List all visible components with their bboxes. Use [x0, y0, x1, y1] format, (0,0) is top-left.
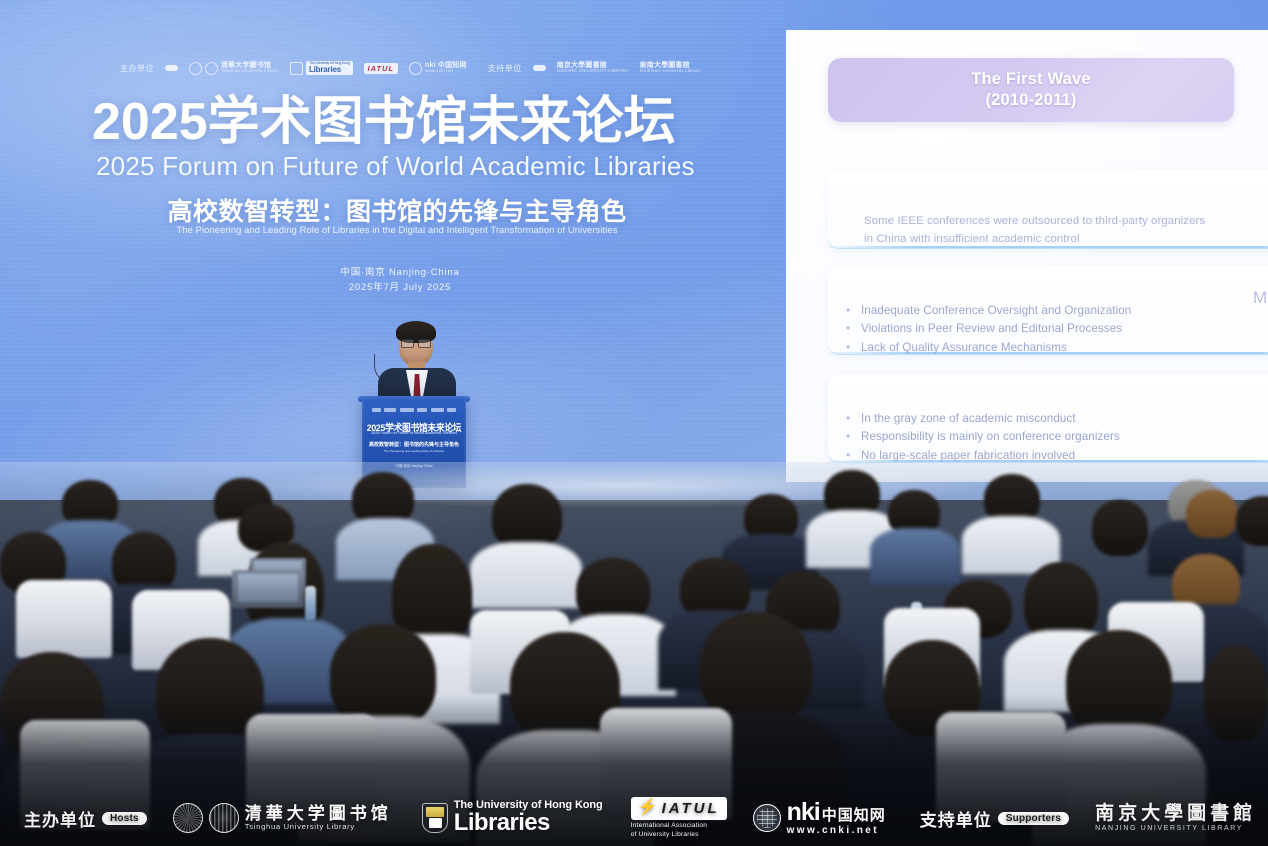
podium-logo-3: [400, 408, 414, 412]
chair: [16, 580, 112, 658]
slide-bullet-list-assessment: In the gray zone of academic misconduct …: [842, 410, 1268, 465]
slide-edge-partial-text: M: [1253, 288, 1267, 308]
iatul-bolt-icon: ⚡: [638, 800, 658, 816]
footer-logo-iatul: ⚡ IATUL International Association of Uni…: [631, 797, 727, 840]
footer-hosts-label-wrap: 主办单位 Hosts: [24, 806, 147, 831]
audience-shoulders: [470, 542, 582, 608]
water-bottle: [305, 586, 316, 620]
audience-shoulders: [870, 528, 960, 584]
footer-hku-line2: Libraries: [454, 811, 603, 835]
footer-logo-hku: The University of Hong Kong Libraries: [422, 800, 603, 835]
banner-supporters-label: 支持单位: [488, 63, 522, 74]
footer-iatul-sub1: International Association: [631, 822, 707, 831]
cnki-globe-icon: [753, 804, 781, 832]
slide-title-card: The First Wave (2010-2011): [828, 58, 1234, 122]
podium-logo-6: [447, 408, 456, 412]
footer-cnki-nki: nki: [787, 800, 820, 826]
slide-title-line2: (2010-2011): [985, 90, 1076, 111]
banner-supporters-pill: [533, 65, 546, 71]
glasses-icon: [401, 339, 431, 347]
slide-lead-text: Some IEEE conferences were outsourced to…: [864, 212, 1214, 249]
footer-tsinghua-en: Tsinghua University Library: [245, 823, 392, 831]
cnki-globe-icon: [409, 62, 422, 75]
footer-logo-tsinghua: 清華大学圖书馆 Tsinghua University Library: [173, 803, 392, 833]
banner-tsinghua-en: Tsinghua University Library: [221, 69, 279, 74]
banner-subtitle-en: The Pioneering and Leading Role of Libra…: [162, 224, 632, 235]
banner-nju-en: NANJING UNIVERSITY LIBRARY: [557, 69, 629, 74]
podium-title-en: 2025 Forum on Future of World Academic L…: [362, 431, 466, 435]
podium-logo-2: [384, 408, 396, 412]
list-item: Responsibility is mainly on conference o…: [842, 428, 1268, 446]
audience-head: [1236, 496, 1268, 546]
footer-hosts-label: 主办单位: [24, 806, 96, 831]
list-item: Lack of Quality Assurance Mechanisms: [842, 339, 1268, 357]
banner-seu-en: Southeast University Library: [639, 69, 700, 74]
conference-photo: 主办单位 清華大学圖书馆 Tsinghua University Library…: [0, 0, 1268, 846]
banner-logo-nju: 南京大學圖書館 NANJING UNIVERSITY LIBRARY: [557, 59, 629, 77]
banner-date: 2025年7月 July 2025: [280, 279, 520, 293]
presentation-slide: The First Wave (2010-2011) Some IEEE con…: [786, 30, 1268, 482]
banner-title-en: 2025 Forum on Future of World Academic L…: [96, 152, 716, 181]
footer-hosts-chip: Hosts: [102, 812, 147, 825]
hku-shield-icon: [290, 62, 303, 75]
banner-iatul-word: IATUL: [364, 63, 399, 74]
banner-hosts-pill: [165, 65, 178, 71]
footer-logo-nju: 南京大學圖書館 NANJING UNIVERSITY LIBRARY: [1095, 804, 1256, 833]
banner-hku-word: Libraries: [309, 65, 341, 74]
audience-seating: [0, 462, 1268, 846]
footer-cnki-cn: 中国知网: [822, 808, 886, 823]
list-item: In the gray zone of academic misconduct: [842, 410, 1268, 428]
footer-hosts-group: 主办单位 Hosts: [24, 806, 147, 831]
podium-logo-1: [372, 408, 381, 412]
banner-logo-hku: The University of Hong Kong Libraries: [290, 59, 353, 77]
banner-logo-cnki: nki 中国知网 www.cnki.net: [409, 59, 467, 77]
slide-title-line1: The First Wave: [971, 69, 1091, 90]
banner-hosts-label: 主办单位: [120, 63, 154, 74]
tsinghua-seal-icon: [189, 62, 202, 75]
footer-cnki-url: www.cnki.net: [787, 826, 886, 836]
footer-sponsor-bar: 主办单位 Hosts 清華大学圖书馆 Tsinghua University L…: [0, 790, 1268, 846]
footer-nju-cn: 南京大學圖書館: [1095, 804, 1256, 825]
podium-sponsor-logos: [372, 406, 456, 414]
banner-title-cn: 2025学术图书馆未来论坛: [92, 96, 712, 149]
footer-supporters-label: 支持单位: [920, 806, 992, 831]
list-item: Violations in Peer Review and Editorial …: [842, 320, 1268, 338]
tsinghua-seal-icon: [173, 803, 203, 833]
footer-iatul-sub2: of University Libraries: [631, 831, 707, 840]
list-item: Inadequate Conference Oversight and Orga…: [842, 302, 1268, 320]
footer-tsinghua-cn: 清華大学圖书馆: [245, 805, 392, 823]
banner-cnki-url: www.cnki.net: [425, 69, 467, 74]
podium-logo-4: [417, 408, 427, 412]
podium-subtitle-en: The Pioneering and Leading Role of Libra…: [362, 449, 466, 453]
banner-logo-iatul: IATUL: [364, 59, 399, 77]
hku-shield-icon: [422, 803, 448, 833]
audience-head: [1186, 490, 1238, 538]
laptop: [232, 570, 304, 608]
banner-logo-seu: 東南大學圖書館 Southeast University Library: [639, 59, 700, 77]
footer-logo-cnki: nki 中国知网 www.cnki.net: [753, 800, 886, 836]
footer-iatul-word: IATUL: [662, 800, 720, 817]
banner-logo-tsinghua: 清華大学圖书馆 Tsinghua University Library: [189, 59, 279, 77]
audience-head: [1092, 500, 1148, 556]
footer-nju-en: NANJING UNIVERSITY LIBRARY: [1095, 825, 1256, 833]
footer-supporters-group: 支持单位 Supporters: [920, 806, 1069, 831]
audience-head: [492, 484, 562, 550]
tsinghua-library-seal-icon: [209, 803, 239, 833]
footer-supporters-chip: Supporters: [998, 812, 1069, 825]
podium-subtitle-cn: 高校数智转型：图书馆的先锋与主导角色: [362, 441, 466, 448]
slide-bullet-list-issues: Inadequate Conference Oversight and Orga…: [842, 302, 1268, 357]
banner-place: 中国·南京 Nanjing·China: [280, 264, 520, 278]
tsinghua-library-seal-icon: [205, 62, 218, 75]
podium-logo-5: [431, 408, 444, 412]
banner-sponsor-strip: 主办单位 清華大学圖书馆 Tsinghua University Library…: [120, 54, 700, 82]
banner-subtitle-cn: 高校数智转型：图书馆的先锋与主导角色: [162, 192, 632, 228]
